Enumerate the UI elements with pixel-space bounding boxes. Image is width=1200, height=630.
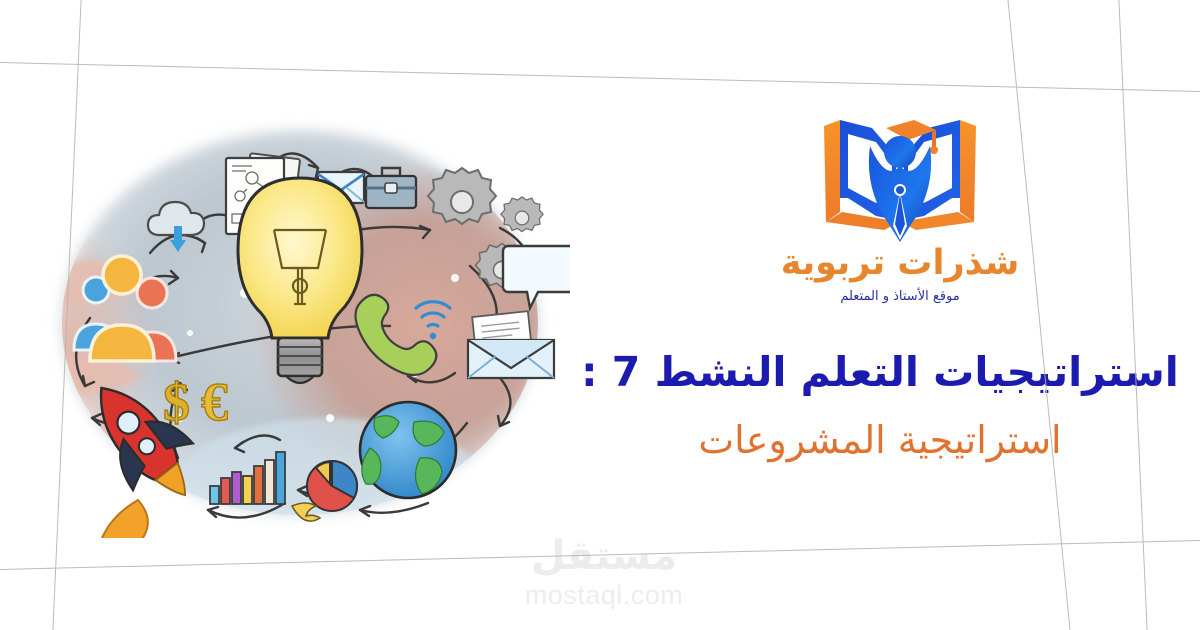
headline-line-2: استراتيجية المشروعات xyxy=(570,418,1190,463)
poster-canvas: $ € xyxy=(0,0,1200,630)
brand-logo-block: شذرات تربوية موقع الأستاذ و المتعلم xyxy=(600,104,1200,303)
watermark-domain: mostaql.com xyxy=(525,582,684,609)
open-envelope-icon xyxy=(468,311,554,378)
rocket-flame xyxy=(99,500,148,538)
illustration-hand-holding-ideas-sphere: $ € xyxy=(30,118,570,538)
svg-text:€: € xyxy=(201,372,228,432)
open-book-graduate-logo-icon xyxy=(814,104,986,244)
headline-line-1: استراتيجيات التعلم النشط 7 : xyxy=(570,348,1190,396)
brand-subtitle: موقع الأستاذ و المتعلم xyxy=(840,290,959,303)
mostaql-watermark: مستقل mostaql.com xyxy=(497,536,711,620)
brand-name: شذرات تربوية xyxy=(781,246,1020,281)
globe-icon xyxy=(360,402,456,498)
svg-text:$: $ xyxy=(163,372,190,432)
pie-chart-icon xyxy=(307,461,357,511)
headline-block: استراتيجيات التعلم النشط 7 : استراتيجية … xyxy=(570,348,1190,463)
watermark-arabic: مستقل xyxy=(531,536,677,576)
